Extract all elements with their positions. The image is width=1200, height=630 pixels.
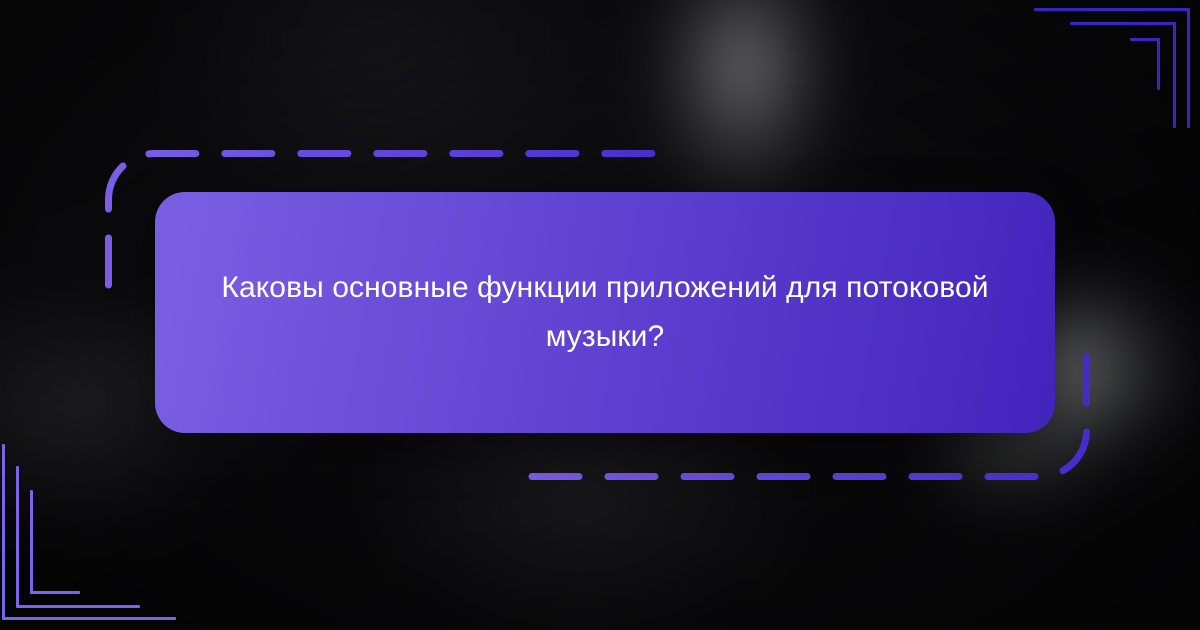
corner-bracket-top-right — [1024, 0, 1200, 128]
corner-line-v-3 — [30, 490, 33, 594]
corner-line-v-3 — [1157, 38, 1160, 90]
corner-line-v-1 — [1187, 8, 1190, 128]
corner-line-h-3 — [1130, 38, 1160, 41]
corner-line-h-3 — [30, 591, 80, 594]
share-card-canvas: Каковы основные функции приложений для п… — [0, 0, 1200, 630]
corner-line-v-2 — [16, 466, 19, 608]
corner-line-h-2 — [16, 605, 140, 608]
question-text: Каковы основные функции приложений для п… — [221, 264, 989, 361]
question-card: Каковы основные функции приложений для п… — [155, 192, 1055, 433]
corner-line-v-1 — [2, 444, 5, 620]
corner-line-h-1 — [2, 617, 176, 620]
corner-line-v-2 — [1173, 22, 1176, 128]
corner-line-h-1 — [1034, 8, 1190, 11]
corner-line-h-2 — [1070, 22, 1176, 25]
